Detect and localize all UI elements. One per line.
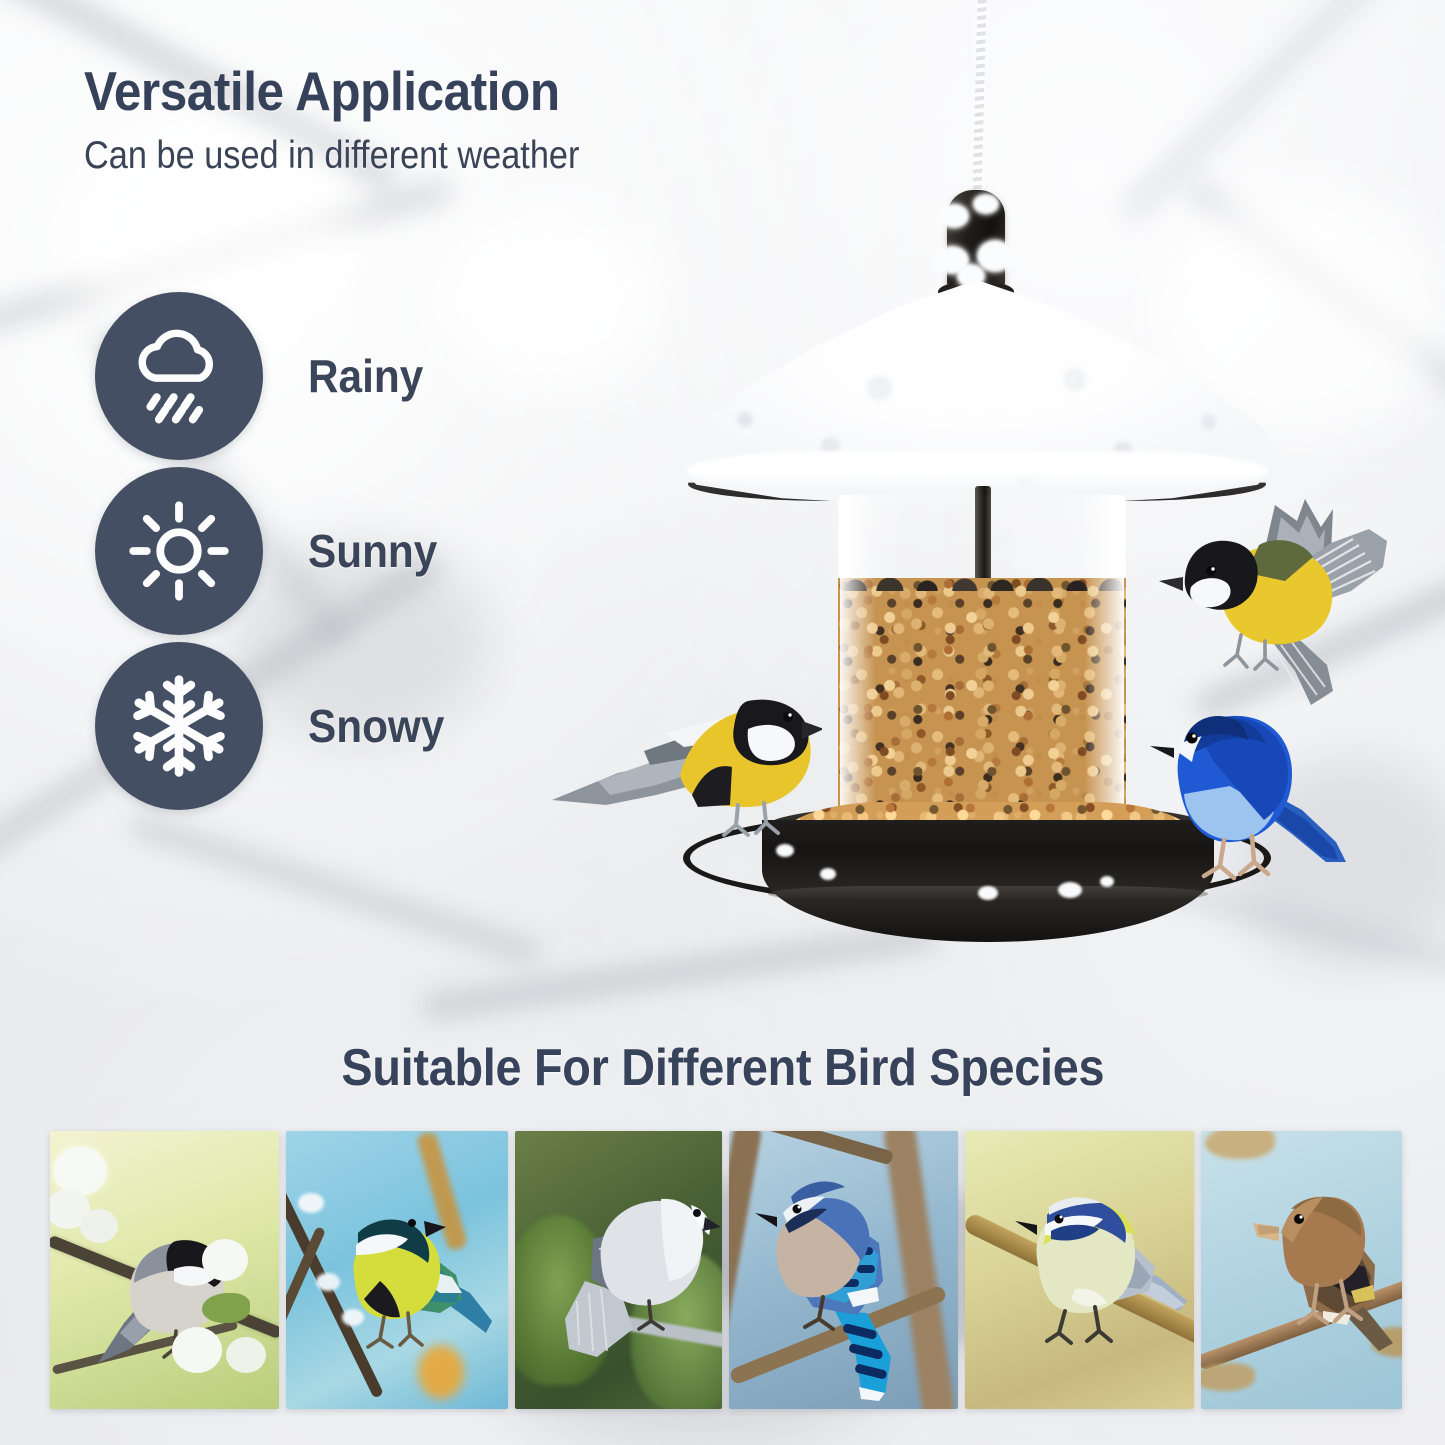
species-card-great-tit[interactable] (286, 1131, 508, 1409)
sunny-badge (95, 467, 263, 635)
frost-shape (342, 1309, 364, 1326)
seed-surface (838, 578, 1126, 591)
hanging-rope (972, 0, 986, 201)
feature-row-rainy: Rainy (95, 288, 456, 463)
gray-jay-figure (545, 1169, 722, 1369)
roof-rim-snow (686, 451, 1268, 491)
species-card-hawfinch[interactable] (1201, 1131, 1402, 1409)
bud-shape (1205, 1131, 1275, 1159)
frost-shape (316, 1273, 340, 1291)
section-heading-text: Suitable For Different Bird Species (341, 1038, 1104, 1098)
blossom-shape (172, 1327, 222, 1373)
feature-row-snowy: Snowy (95, 638, 456, 813)
blossom-shape (54, 1147, 106, 1195)
sun-icon (127, 499, 231, 603)
snow-covered-roof (672, 280, 1282, 505)
species-card-blue-tit[interactable] (965, 1131, 1194, 1409)
blossom-shape (80, 1209, 118, 1243)
species-card-blue-jay[interactable] (729, 1131, 958, 1409)
leaf-shape (202, 1293, 250, 1323)
clear-seed-tube (838, 495, 1126, 840)
bird-great-tit-perched (552, 655, 822, 840)
section-heading: Suitable For Different Bird Species (0, 1038, 1445, 1098)
page-title: Versatile Application (84, 63, 591, 119)
blossom-shape (202, 1239, 248, 1281)
feature-label-snowy: Snowy (308, 699, 444, 753)
snowy-badge (95, 642, 263, 810)
rainy-badge (95, 292, 263, 460)
blossom-shape (226, 1337, 266, 1373)
headline-group: Versatile Application Can be used in dif… (84, 63, 647, 178)
great-tit-figure (314, 1189, 499, 1359)
snowflake-icon (125, 672, 233, 780)
blue-tit-figure (1003, 1167, 1193, 1357)
page-subtitle: Can be used in different weather (84, 134, 579, 178)
feature-label-rainy: Rainy (308, 349, 423, 403)
bird-blue-flycatcher-perched (1140, 690, 1355, 890)
rain-cloud-icon (126, 323, 232, 429)
feature-label-sunny: Sunny (308, 524, 437, 578)
bird-great-tit-flying (1155, 495, 1390, 720)
blue-jay-figure (743, 1151, 943, 1401)
frost-shape (298, 1193, 324, 1213)
feature-row-sunny: Sunny (95, 463, 456, 638)
species-card-gray-jay[interactable] (515, 1131, 722, 1409)
bird-species-gallery (50, 1131, 1402, 1409)
hawfinch-figure (1243, 1165, 1402, 1370)
species-card-chickadee[interactable] (50, 1131, 279, 1409)
weather-feature-list: Rainy Sunny (95, 288, 456, 813)
